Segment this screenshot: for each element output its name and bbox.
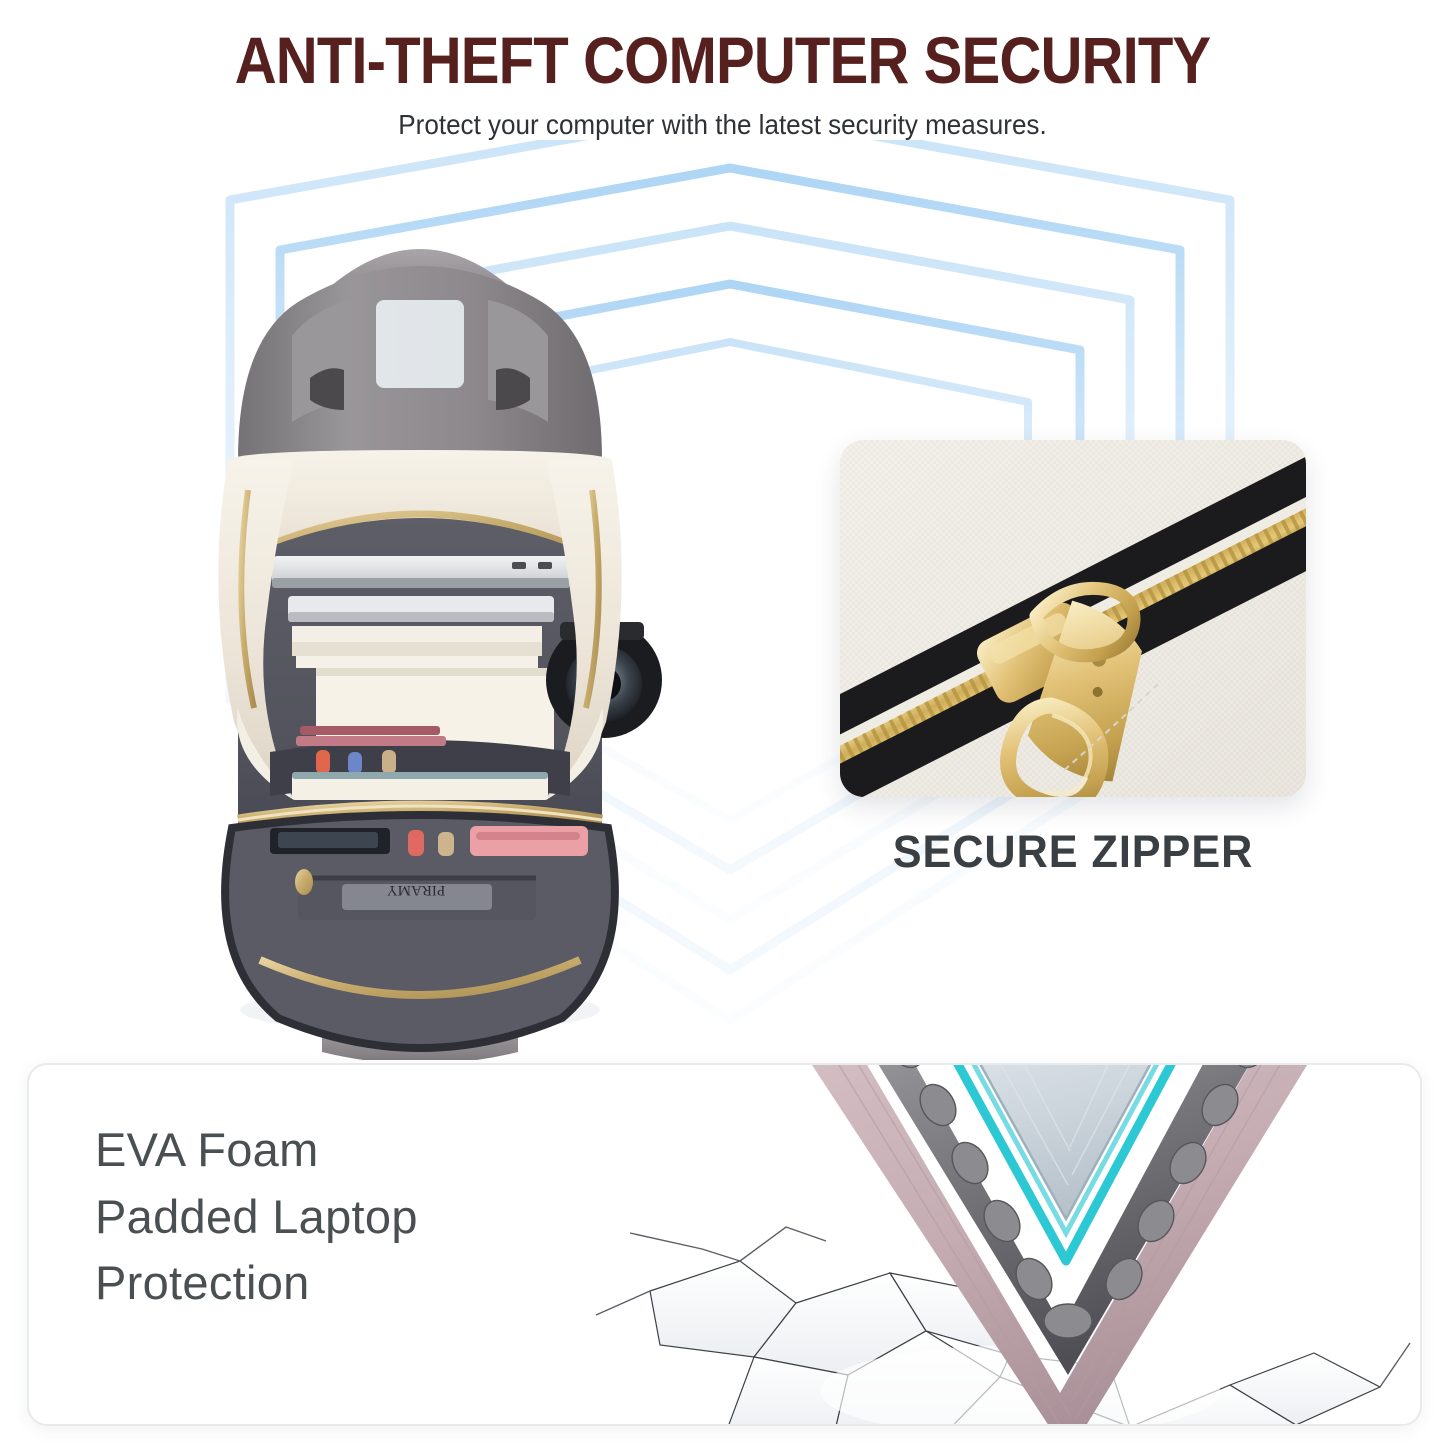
open-backpack-photo: PIRAMY (120, 160, 720, 1060)
eva-foam-panel: EVA Foam Padded Laptop Protection (27, 1063, 1422, 1426)
eva-foam-caption: EVA Foam Padded Laptop Protection (95, 1117, 418, 1317)
page-title: ANTI-THEFT COMPUTER SECURITY (87, 0, 1359, 95)
infographic-canvas: ANTI-THEFT COMPUTER SECURITY Protect you… (0, 0, 1445, 1445)
eva-caption-line-2: Padded Laptop (95, 1184, 418, 1251)
secure-zipper-image (840, 440, 1306, 797)
secure-zipper-label: SECURE ZIPPER (849, 826, 1296, 878)
eva-caption-line-3: Protection (95, 1250, 418, 1317)
page-subtitle: Protect your computer with the latest se… (51, 95, 1395, 141)
header: ANTI-THEFT COMPUTER SECURITY Protect you… (0, 0, 1445, 141)
eva-caption-line-1: EVA Foam (95, 1117, 418, 1184)
eva-foam-laptop-corner-image (590, 1063, 1420, 1426)
brand-tag-text: PIRAMY (387, 882, 446, 898)
